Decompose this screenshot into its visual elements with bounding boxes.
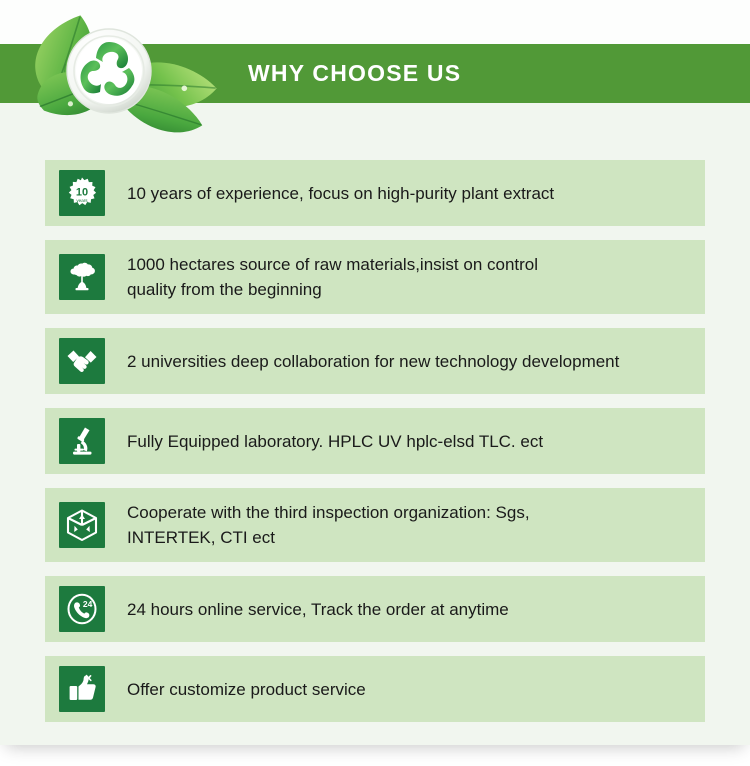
feature-list: 10 years 10 years of experience, focus o…	[45, 160, 705, 736]
microscope-icon	[59, 418, 105, 464]
list-item[interactable]: Fully Equipped laboratory. HPLC UV hplc-…	[45, 408, 705, 474]
svg-text:10: 10	[76, 187, 88, 199]
list-item[interactable]: Cooperate with the third inspection orga…	[45, 488, 705, 562]
why-choose-us-page: WHY CHOOSE US 10 years 10 years of exper…	[0, 0, 750, 766]
list-item[interactable]: 1000 hectares source of raw materials,in…	[45, 240, 705, 314]
list-item-label: 24 hours online service, Track the order…	[127, 597, 705, 622]
list-item-label: Offer customize product service	[127, 677, 705, 702]
leaf-recycle-logo-icon	[8, 12, 230, 134]
thumbs-up-icon	[59, 666, 105, 712]
handshake-icon	[59, 338, 105, 384]
list-item-label: 2 universities deep collaboration for ne…	[127, 349, 705, 374]
tree-icon	[59, 254, 105, 300]
phone-24h-icon: 24	[59, 586, 105, 632]
list-item[interactable]: Offer customize product service	[45, 656, 705, 722]
list-item-label: Fully Equipped laboratory. HPLC UV hplc-…	[127, 429, 705, 454]
svg-text:years: years	[76, 198, 88, 203]
svg-text:24: 24	[83, 599, 93, 609]
list-item-label: 10 years of experience, focus on high-pu…	[127, 181, 705, 206]
list-item-label: 1000 hectares source of raw materials,in…	[127, 252, 705, 302]
page-title: WHY CHOOSE US	[248, 44, 461, 103]
list-item-label: Cooperate with the third inspection orga…	[127, 500, 705, 550]
list-item[interactable]: 24 24 hours online service, Track the or…	[45, 576, 705, 642]
list-item[interactable]: 2 universities deep collaboration for ne…	[45, 328, 705, 394]
cube-box-icon	[59, 502, 105, 548]
ten-years-badge-icon: 10 years	[59, 170, 105, 216]
list-item[interactable]: 10 years 10 years of experience, focus o…	[45, 160, 705, 226]
